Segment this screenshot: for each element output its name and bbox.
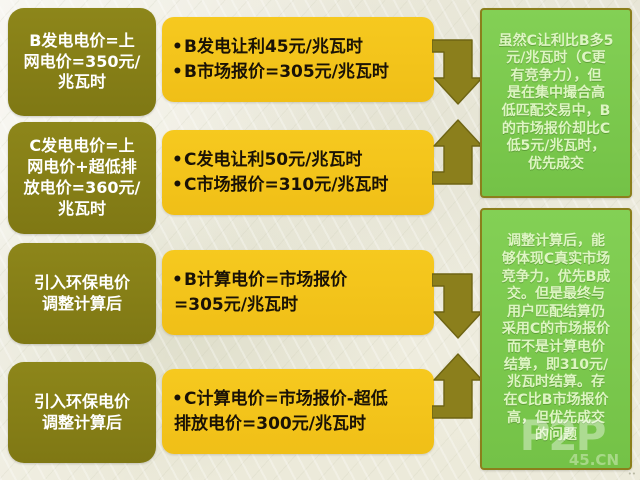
conclusion-box-before-adjust[interactable]: 虽然C让利比B多5 元/兆瓦时（C更 有竞争力），但 是在集中撮合高 低匹配交易…: [480, 8, 632, 198]
detail-box-c-adjusted[interactable]: C计算电价=市场报价-超低 排放电价=300元/兆瓦时: [162, 369, 434, 454]
conclusion-line: 兆瓦时结算。存: [486, 374, 626, 392]
conclusion-line: 在C比B市场报价: [486, 392, 626, 410]
premise-box-b-base[interactable]: B发电电价=上 网电价=350元/ 兆瓦时: [8, 8, 156, 116]
conclusion-line: 而不是计算电价: [486, 339, 626, 357]
detail-line: C计算电价=市场报价-超低: [174, 387, 424, 411]
premise-line: 调整计算后: [16, 413, 148, 434]
arrow-bottom-up: [432, 352, 484, 420]
detail-line: C发电让利50元/兆瓦时: [174, 148, 424, 172]
conclusion-line: 高，但优先成交: [486, 410, 626, 428]
detail-box-b-adjusted[interactable]: B计算电价=市场报价 =305元/兆瓦时: [162, 250, 434, 335]
detail-line: B发电让利45元/兆瓦时: [174, 35, 424, 59]
conclusion-line: 竞争力，优先B成: [486, 269, 626, 287]
conclusion-box-after-adjust[interactable]: 调整计算后，能 够体现C真实市场 竞争力，优先B成 交。但是最终与 用户匹配结算…: [480, 208, 632, 470]
detail-line: =305元/兆瓦时: [174, 293, 424, 317]
detail-line: B市场报价=305元/兆瓦时: [174, 60, 424, 84]
detail-box-c-base[interactable]: C发电让利50元/兆瓦时 C市场报价=310元/兆瓦时: [162, 130, 434, 215]
premise-line: 调整计算后: [16, 294, 148, 315]
conclusion-line: 低5元/兆瓦时，: [486, 138, 626, 156]
premise-box-b-adjusted[interactable]: 引入环保电价 调整计算后: [8, 243, 156, 344]
detail-box-b-base[interactable]: B发电让利45元/兆瓦时 B市场报价=305元/兆瓦时: [162, 17, 434, 102]
arrow-top-up: [432, 118, 484, 186]
premise-box-c-adjusted[interactable]: 引入环保电价 调整计算后: [8, 362, 156, 463]
premise-line: 引入环保电价: [16, 273, 148, 294]
conclusion-line: 优先成交: [486, 156, 626, 174]
conclusion-line: 的市场报价却比C: [486, 121, 626, 139]
conclusion-line: 低匹配交易中，B: [486, 103, 626, 121]
conclusion-line: 调整计算后，能: [486, 233, 626, 251]
conclusion-line: 是在集中撮合高: [486, 85, 626, 103]
diagram-canvas: B发电电价=上 网电价=350元/ 兆瓦时 B发电让利45元/兆瓦时 B市场报价…: [0, 0, 640, 480]
premise-line: 网电价+超低排: [16, 157, 148, 178]
premise-line: 放电价=360元/: [16, 178, 148, 199]
conclusion-line: 结算，即310元/: [486, 357, 626, 375]
arrow-top-down: [432, 38, 484, 106]
conclusion-line: 用户匹配结算仍: [486, 304, 626, 322]
premise-line: B发电电价=上: [16, 31, 148, 52]
detail-line: B计算电价=市场报价: [174, 268, 424, 292]
detail-line: C市场报价=310元/兆瓦时: [174, 173, 424, 197]
conclusion-line: 元/兆瓦时（C更: [486, 50, 626, 68]
conclusion-line: 够体现C真实市场: [486, 251, 626, 269]
detail-line: 排放电价=300元/兆瓦时: [174, 412, 424, 436]
premise-line: 兆瓦时: [16, 72, 148, 93]
conclusion-line: 采用C的市场报价: [486, 321, 626, 339]
conclusion-line: 的问题: [486, 427, 626, 445]
premise-line: C发电电价=上: [16, 136, 148, 157]
premise-line: 兆瓦时: [16, 199, 148, 220]
conclusion-line: 交。但是最终与: [486, 286, 626, 304]
premise-line: 引入环保电价: [16, 392, 148, 413]
premise-line: 网电价=350元/: [16, 52, 148, 73]
corner-mark: ••: [628, 470, 636, 478]
conclusion-line: 虽然C让利比B多5: [486, 33, 626, 51]
conclusion-line: 有竞争力），但: [486, 68, 626, 86]
premise-box-c-base[interactable]: C发电电价=上 网电价+超低排 放电价=360元/ 兆瓦时: [8, 122, 156, 234]
arrow-bottom-down: [432, 272, 484, 340]
